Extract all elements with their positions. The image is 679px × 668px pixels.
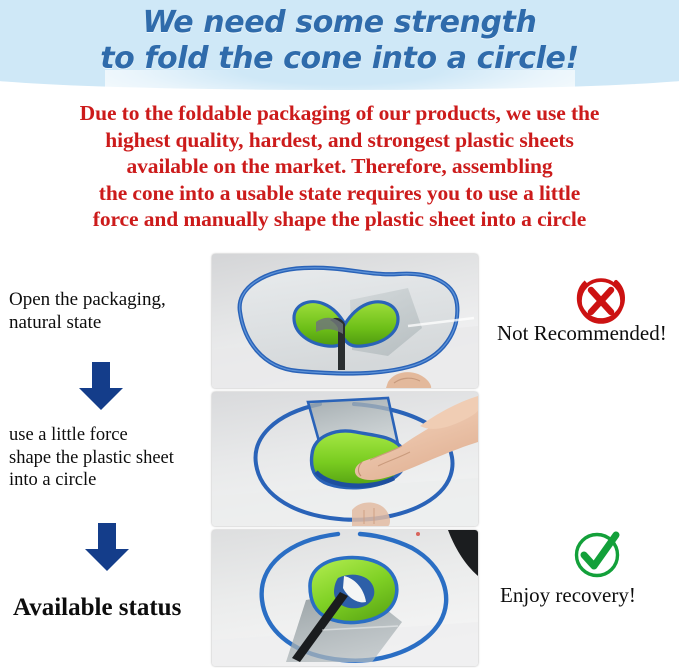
- hands-shaping-cone-photo: [212, 392, 478, 526]
- down-arrow-icon: [76, 360, 126, 412]
- flat-folded-cone-photo: [212, 254, 478, 388]
- down-arrow-icon-1: [76, 360, 126, 412]
- verdict-label-enjoy-recovery: Enjoy recovery!: [500, 583, 636, 608]
- down-arrow-icon: [82, 521, 132, 573]
- verdict-label-not-recommended: Not Recommended!: [497, 321, 667, 346]
- infographic-page: We need some strength to fold the cone i…: [0, 0, 679, 668]
- step-caption-1: Open the packaging, natural state: [9, 288, 209, 334]
- step-photo-1: [212, 254, 478, 388]
- step-photo-2: [212, 392, 478, 526]
- circle-check-icon: [570, 527, 624, 581]
- step-caption-2: use a little force shape the plastic she…: [9, 424, 214, 492]
- page-title: We need some strength to fold the cone i…: [0, 5, 679, 77]
- circle-x-icon: [574, 274, 628, 328]
- header-band: We need some strength to fold the cone i…: [0, 0, 679, 100]
- intro-paragraph: Due to the foldable packaging of our pro…: [8, 100, 671, 233]
- down-arrow-icon-2: [82, 521, 132, 573]
- step-caption-3: Available status: [13, 596, 213, 619]
- step-photo-3: [212, 530, 478, 666]
- circle-check-icon: [570, 527, 624, 581]
- circle-x-icon: [574, 274, 628, 328]
- assembled-circular-cone-photo: [212, 530, 478, 666]
